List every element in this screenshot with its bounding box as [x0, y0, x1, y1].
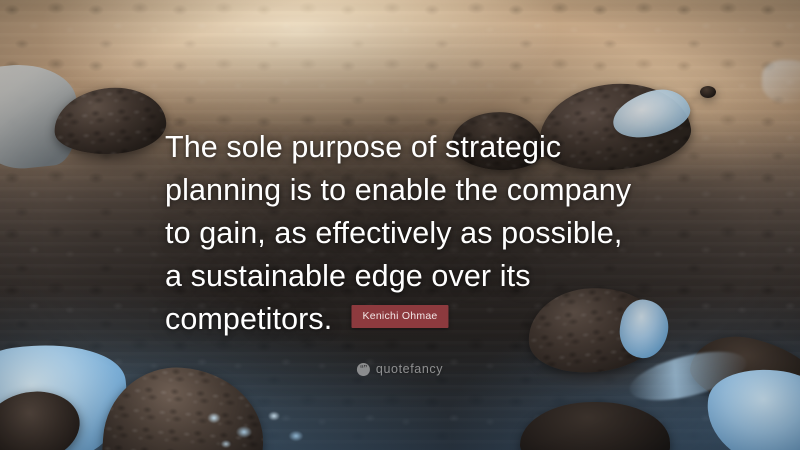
author-badge: Kenichi Ohmae: [351, 305, 448, 328]
quote-wallpaper: The sole purpose of strategic planning i…: [0, 0, 800, 450]
quotefancy-logo-icon: “”: [357, 363, 370, 376]
watermark: “” quotefancy: [357, 362, 443, 376]
quote-overlay: The sole purpose of strategic planning i…: [0, 0, 800, 450]
watermark-brand-label: quotefancy: [376, 362, 443, 376]
